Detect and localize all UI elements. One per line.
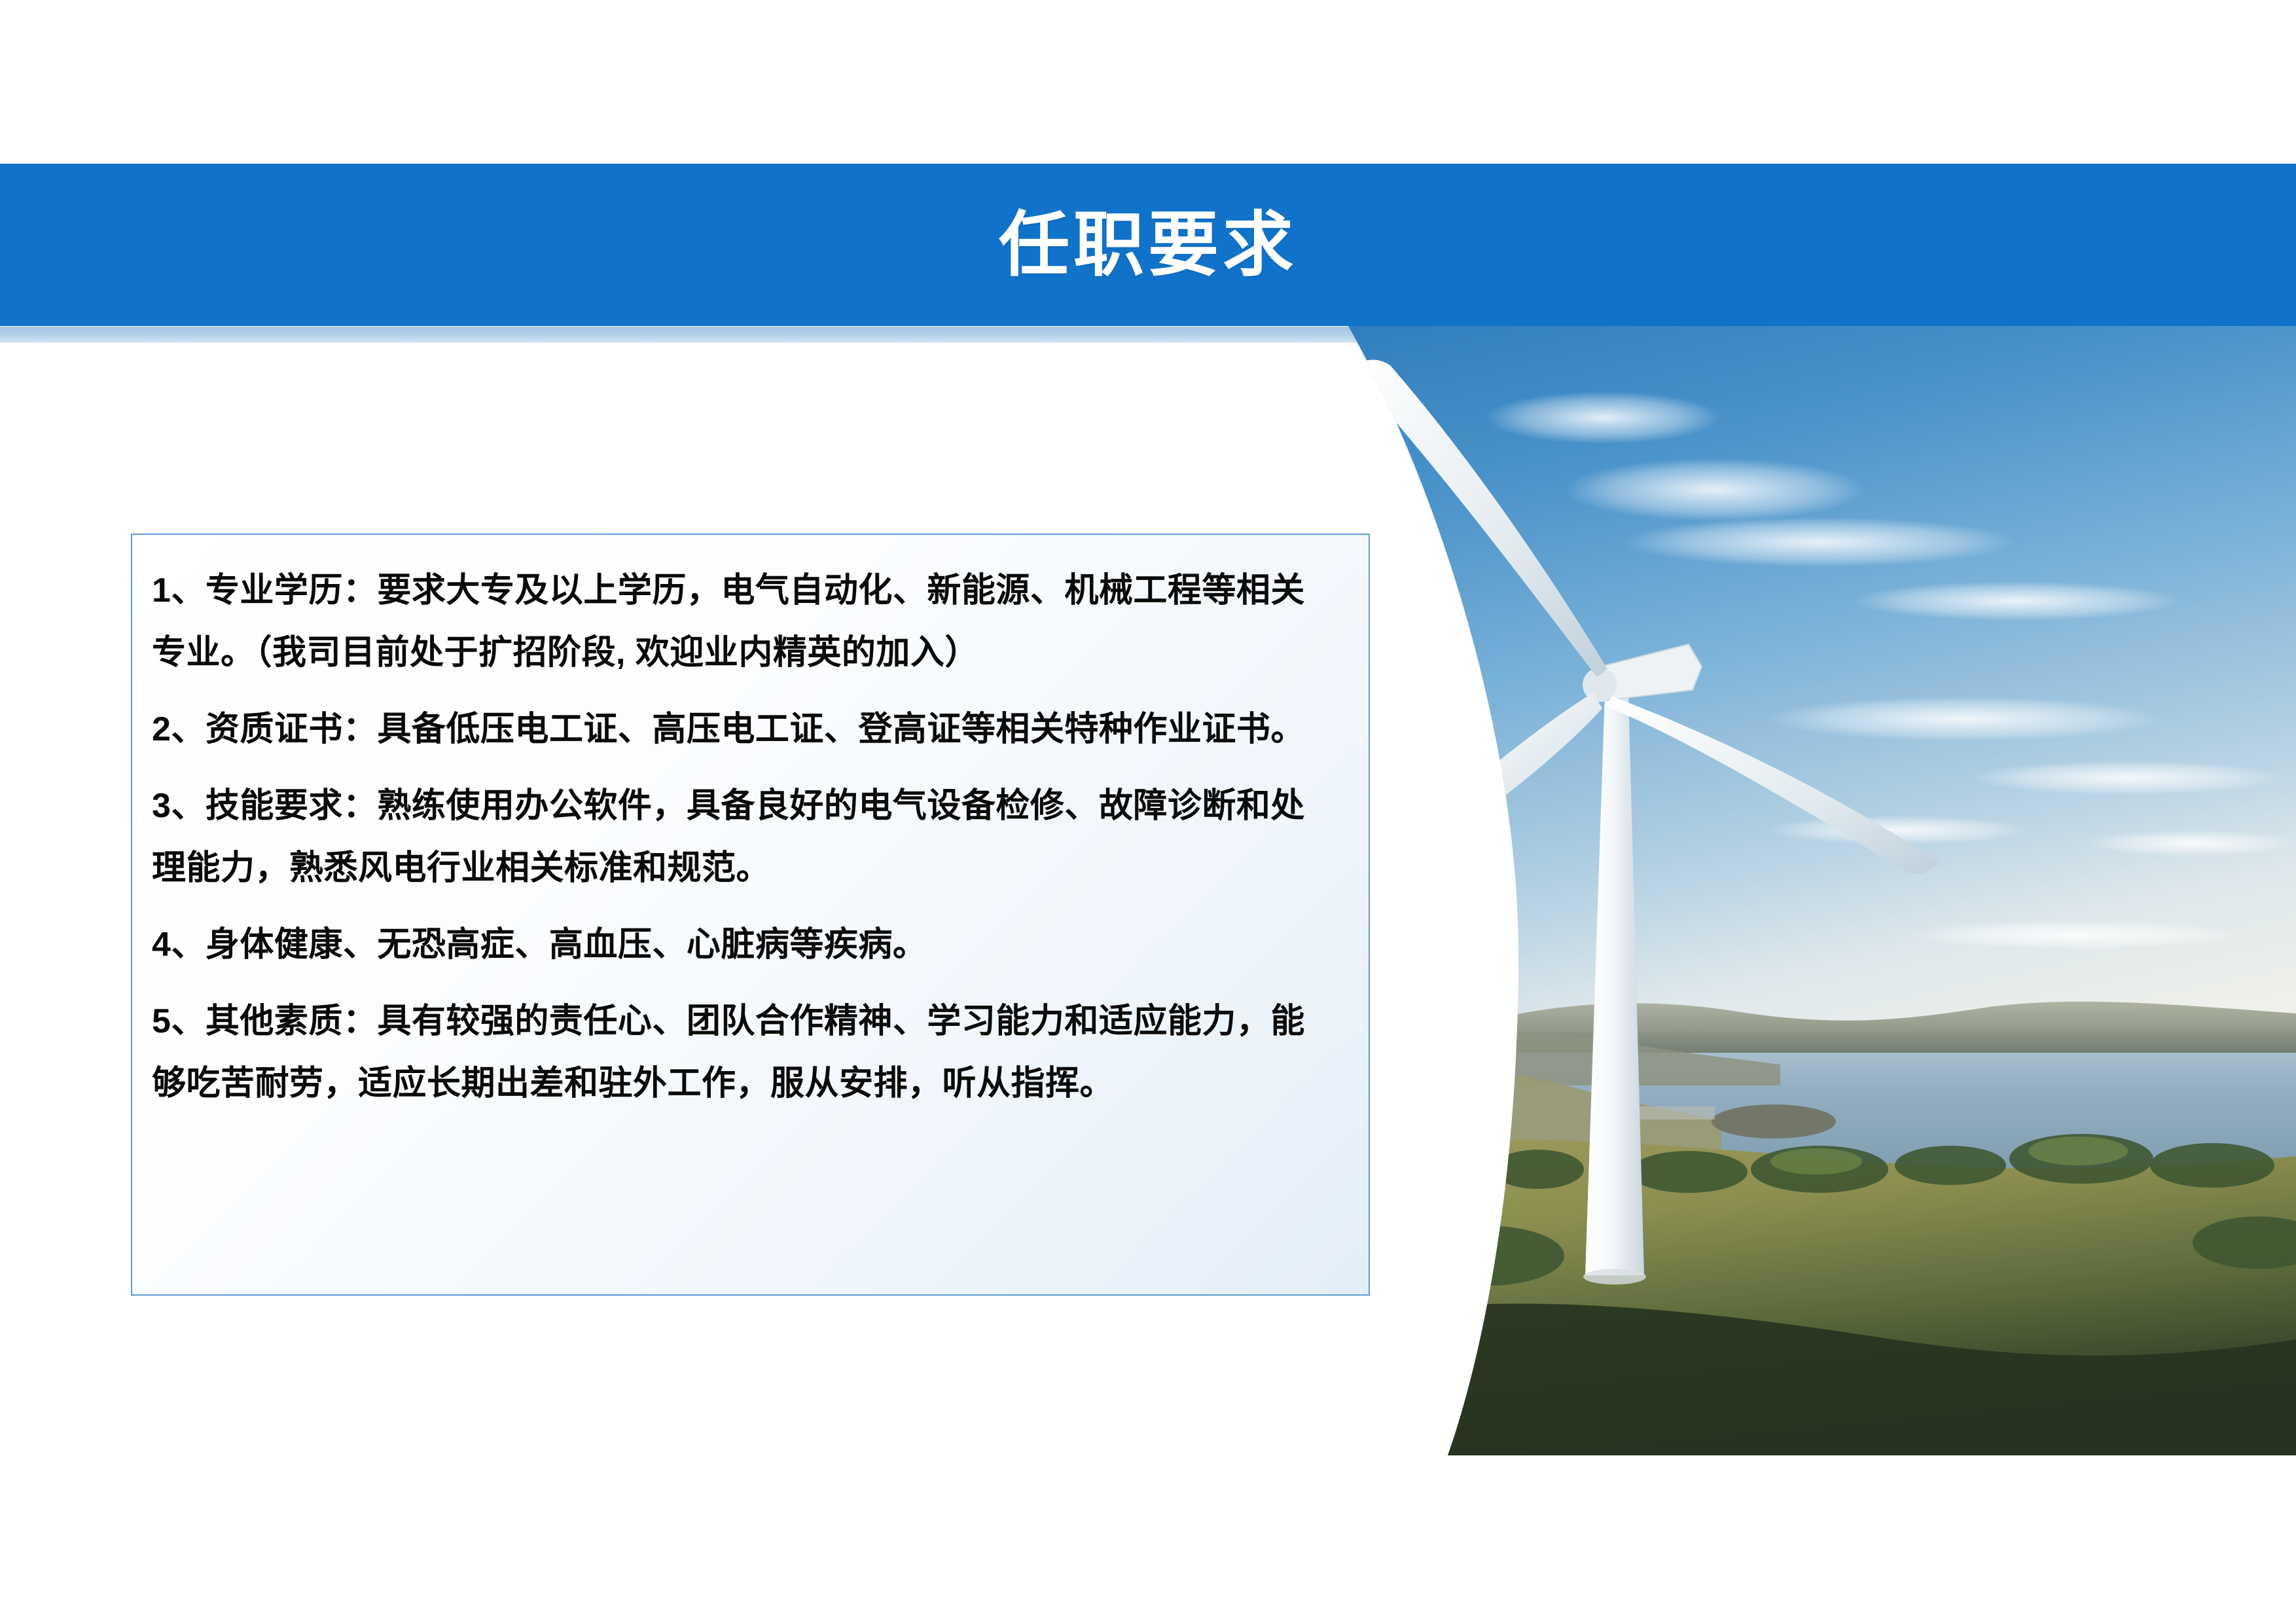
page-title: 任职要求 [0, 164, 2296, 326]
requirements-list: 1、专业学历：要求大专及以上学历，电气自动化、新能源、机械工程等相关专业。（我司… [152, 560, 1330, 1115]
requirement-item-1: 1、专业学历：要求大专及以上学历，电气自动化、新能源、机械工程等相关专业。（我司… [152, 560, 1330, 684]
requirement-item-3: 3、技能要求：熟练使用办公软件，具备良好的电气设备检修、故障诊断和处理能力，熟悉… [152, 775, 1330, 900]
requirements-content-box: 1、专业学历：要求大专及以上学历，电气自动化、新能源、机械工程等相关专业。（我司… [131, 534, 1370, 1296]
wind-turbine-photo [1322, 326, 2296, 1455]
decorative-photo-panel [1322, 326, 2296, 1455]
requirement-item-5: 5、其他素质：具有较强的责任心、团队合作精神、学习能力和适应能力，能够吃苦耐劳，… [152, 991, 1330, 1115]
slide-canvas: 任职要求 [0, 0, 2296, 1623]
requirement-item-4: 4、身体健康、无恐高症、高血压、心脏病等疾病。 [152, 914, 1330, 976]
requirement-item-2: 2、资质证书：具备低压电工证、高压电工证、登高证等相关特种作业证书。 [152, 699, 1330, 761]
